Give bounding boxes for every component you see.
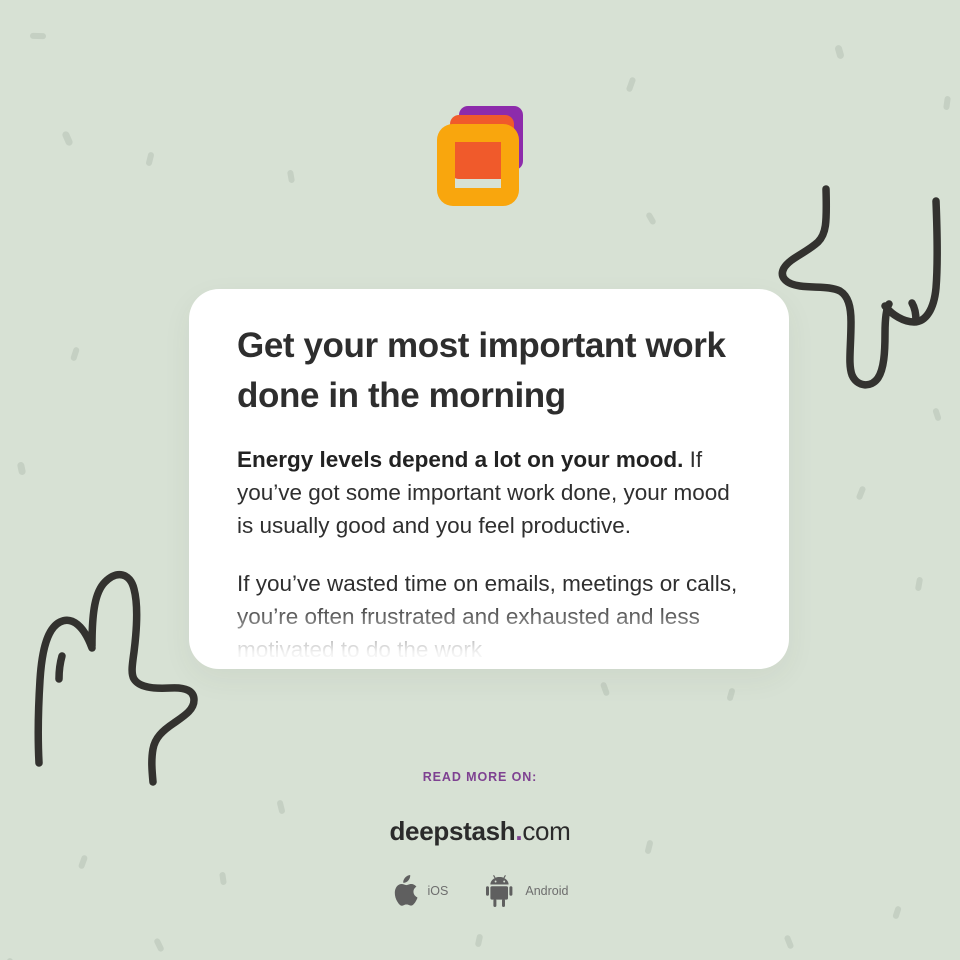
confetti-fleck (834, 44, 845, 59)
confetti-fleck (17, 461, 27, 475)
android-label: Android (525, 884, 568, 898)
android-icon (486, 875, 516, 907)
pointing-hand-up-icon (22, 556, 212, 788)
confetti-fleck (70, 346, 80, 361)
confetti-fleck (932, 407, 942, 421)
android-badge[interactable]: Android (486, 875, 568, 907)
footer: READ MORE ON: deepstash.com iOS (0, 770, 960, 907)
ios-badge[interactable]: iOS (392, 875, 449, 907)
confetti-fleck (600, 681, 610, 696)
ios-label: iOS (428, 884, 449, 898)
paragraph-one: Energy levels depend a lot on your mood.… (237, 444, 741, 542)
confetti-fleck (856, 485, 867, 500)
read-more-label: READ MORE ON: (0, 770, 960, 784)
pointing-hand-down-icon (768, 176, 960, 401)
wordmark-name: deepstash (389, 816, 515, 846)
logo-layer-amber (437, 124, 519, 206)
confetti-fleck (626, 76, 637, 92)
confetti-fleck (645, 211, 657, 225)
page-title: Get your most important work done in the… (237, 321, 741, 420)
wordmark-tld: com (522, 816, 570, 846)
confetti-fleck (784, 934, 795, 949)
confetti-fleck (915, 577, 923, 592)
apple-icon (392, 875, 419, 907)
insight-card: Get your most important work done in the… (189, 289, 789, 669)
confetti-fleck (30, 33, 46, 40)
paragraph-two: If you’ve wasted time on emails, meeting… (237, 568, 741, 666)
store-badges: iOS Android (0, 875, 960, 907)
deepstash-wordmark[interactable]: deepstash.com (0, 816, 960, 847)
confetti-fleck (726, 687, 735, 701)
confetti-fleck (475, 934, 484, 948)
poster-canvas: Get your most important work done in the… (0, 0, 960, 960)
paragraph-one-lead: Energy levels depend a lot on your mood. (237, 447, 683, 472)
confetti-fleck (153, 937, 165, 952)
confetti-fleck (892, 905, 902, 919)
truncated-text-fade: If you’ve wasted time on emails, meeting… (237, 568, 741, 666)
